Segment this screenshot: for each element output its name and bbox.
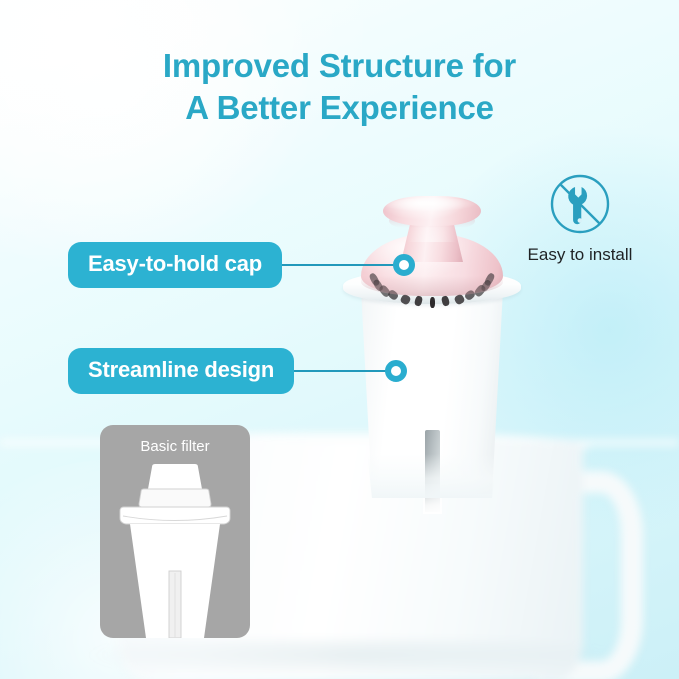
- easy-to-install-feature: Easy to install: [505, 172, 655, 266]
- page-title: Improved Structure for A Better Experien…: [0, 45, 679, 129]
- filter-body-bottom-fade: [353, 454, 511, 498]
- basic-filter-title: Basic filter: [100, 437, 250, 457]
- filter-vent-slit: [430, 297, 435, 308]
- callout-label-streamline-design[interactable]: Streamline design: [68, 348, 294, 394]
- background-glow-top-left: [0, 0, 330, 270]
- filter-cap-top-highlight: [385, 198, 479, 212]
- callout-marker-ring: [385, 360, 407, 382]
- no-tools-wrench-icon: [548, 172, 612, 236]
- callout-leader-line: [282, 264, 394, 266]
- callout-leader-line: [294, 370, 386, 372]
- basic-filter-silhouette-icon: [100, 463, 250, 638]
- easy-to-install-label: Easy to install: [505, 244, 655, 266]
- callout-marker-ring: [393, 254, 415, 276]
- callout-streamline-design[interactable]: Streamline design: [68, 348, 407, 394]
- callout-label-easy-to-hold-cap[interactable]: Easy-to-hold cap: [68, 242, 282, 288]
- infographic-canvas: Improved Structure for A Better Experien…: [0, 0, 679, 679]
- callout-easy-to-hold-cap[interactable]: Easy-to-hold cap: [68, 242, 415, 288]
- pitcher-shadow: [90, 639, 610, 679]
- basic-filter-inset: Basic filter: [100, 425, 250, 638]
